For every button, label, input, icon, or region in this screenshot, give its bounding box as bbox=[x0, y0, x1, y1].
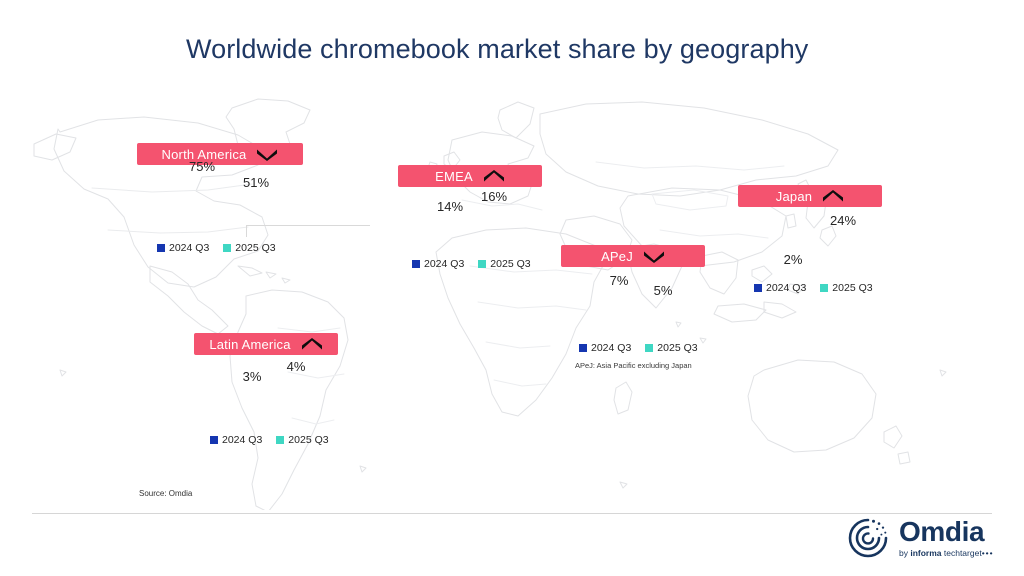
bar-value-japan-2024: 2% bbox=[784, 252, 803, 267]
region-label-apej: APeJ bbox=[601, 249, 633, 264]
legend-swatch-2024-icon bbox=[157, 244, 165, 252]
legend-apej: 2024 Q3 2025 Q3 bbox=[561, 342, 705, 354]
bar-value-emea-2024: 14% bbox=[437, 199, 463, 214]
bar-apej-2025: 5% bbox=[643, 301, 683, 333]
bar-emea-2025: 16% bbox=[474, 207, 514, 249]
page-title: Worldwide chromebook market share by geo… bbox=[186, 34, 808, 65]
legend-item-2024: 2024 Q3 bbox=[754, 282, 806, 294]
legend-latin-america: 2024 Q3 2025 Q3 bbox=[194, 434, 338, 446]
legend-swatch-2024-icon bbox=[210, 436, 218, 444]
omdia-wordmark: Omdia by informa techtarget••• bbox=[899, 518, 994, 558]
legend-swatch-2025-icon bbox=[645, 344, 653, 352]
bar-group-apej: 7% 5% bbox=[561, 267, 705, 333]
legend-label-2024: 2024 Q3 bbox=[591, 342, 631, 354]
legend-item-2025: 2025 Q3 bbox=[478, 258, 530, 270]
bar-latin-america-2024: 3% bbox=[232, 387, 272, 425]
chevron-up-icon bbox=[483, 170, 505, 183]
legend-label-2025: 2025 Q3 bbox=[288, 434, 328, 446]
bar-value-north-america-2025: 51% bbox=[243, 175, 269, 190]
byline-suffix: techtarget bbox=[942, 548, 982, 558]
region-label-emea: EMEA bbox=[435, 169, 473, 184]
bar-north-america-2024: 75% bbox=[177, 177, 227, 233]
legend-swatch-2025-icon bbox=[820, 284, 828, 292]
region-card-emea[interactable]: EMEA 14% 16% 2024 Q3 2025 Q3 bbox=[398, 165, 542, 270]
region-card-apej[interactable]: APeJ 7% 5% 2024 Q3 2025 Q3 bbox=[561, 245, 705, 370]
chevron-up-icon bbox=[301, 338, 323, 351]
bar-latin-america-2025: 4% bbox=[276, 377, 316, 425]
omdia-spiral-mark-icon bbox=[846, 516, 890, 560]
chevron-down-icon bbox=[643, 250, 665, 263]
byline-prefix: by bbox=[899, 548, 910, 558]
region-banner-north-america[interactable]: North America bbox=[137, 143, 303, 165]
region-banner-emea[interactable]: EMEA bbox=[398, 165, 542, 187]
chevron-up-icon bbox=[822, 190, 844, 203]
legend-item-2025: 2025 Q3 bbox=[276, 434, 328, 446]
legend-label-2024: 2024 Q3 bbox=[766, 282, 806, 294]
bar-japan-2025: 24% bbox=[822, 231, 864, 273]
slide-canvas: Worldwide chromebook market share by geo… bbox=[0, 0, 1024, 576]
legend-item-2024: 2024 Q3 bbox=[157, 242, 209, 254]
legend-swatch-2025-icon bbox=[478, 260, 486, 268]
legend-swatch-2025-icon bbox=[276, 436, 284, 444]
bar-value-japan-2025: 24% bbox=[830, 213, 856, 228]
legend-item-2024: 2024 Q3 bbox=[210, 434, 262, 446]
region-label-japan: Japan bbox=[776, 189, 812, 204]
legend-label-2024: 2024 Q3 bbox=[169, 242, 209, 254]
byline-brand: informa bbox=[910, 548, 941, 558]
region-banner-apej[interactable]: APeJ bbox=[561, 245, 705, 267]
legend-label-2024: 2024 Q3 bbox=[222, 434, 262, 446]
bar-group-emea: 14% 16% bbox=[398, 187, 542, 249]
bar-value-apej-2025: 5% bbox=[654, 283, 673, 298]
bar-group-latin-america: 3% 4% bbox=[194, 355, 338, 425]
legend-label-2025: 2025 Q3 bbox=[657, 342, 697, 354]
bar-japan-2024: 2% bbox=[772, 270, 814, 273]
legend-label-2024: 2024 Q3 bbox=[424, 258, 464, 270]
bar-north-america-2025: 51% bbox=[231, 193, 281, 233]
omdia-logo: Omdia by informa techtarget••• bbox=[846, 516, 994, 560]
bar-value-latin-america-2025: 4% bbox=[287, 359, 306, 374]
region-card-latin-america[interactable]: Latin America 3% 4% 2024 Q3 2025 Q3 bbox=[194, 333, 338, 446]
bar-emea-2024: 14% bbox=[430, 217, 470, 249]
legend-swatch-2025-icon bbox=[223, 244, 231, 252]
region-card-japan[interactable]: Japan 2% 24% 2024 Q3 2025 Q3 bbox=[738, 185, 882, 294]
legend-item-2025: 2025 Q3 bbox=[645, 342, 697, 354]
legend-japan: 2024 Q3 2025 Q3 bbox=[738, 282, 882, 294]
legend-item-2025: 2025 Q3 bbox=[820, 282, 872, 294]
bar-value-apej-2024: 7% bbox=[610, 273, 629, 288]
bar-group-north-america: 75% 51% bbox=[137, 165, 303, 233]
region-banner-latin-america[interactable]: Latin America bbox=[194, 333, 338, 355]
bar-value-north-america-2024: 75% bbox=[189, 159, 215, 174]
source-credit: Source: Omdia bbox=[139, 489, 192, 498]
legend-item-2024: 2024 Q3 bbox=[579, 342, 631, 354]
omdia-name: Omdia bbox=[899, 518, 994, 546]
region-card-north-america[interactable]: North America 75% 51% 2024 Q3 2025 Q3 bbox=[137, 143, 303, 254]
legend-label-2025: 2025 Q3 bbox=[490, 258, 530, 270]
bar-apej-2024: 7% bbox=[599, 291, 639, 333]
region-label-latin-america: Latin America bbox=[209, 337, 290, 352]
legend-north-america: 2024 Q3 2025 Q3 bbox=[137, 242, 303, 254]
legend-swatch-2024-icon bbox=[754, 284, 762, 292]
bar-value-latin-america-2024: 3% bbox=[243, 369, 262, 384]
legend-item-2025: 2025 Q3 bbox=[223, 242, 275, 254]
bar-value-emea-2025: 16% bbox=[481, 189, 507, 204]
footer-divider bbox=[32, 513, 992, 514]
chevron-down-icon bbox=[256, 148, 278, 161]
legend-item-2024: 2024 Q3 bbox=[412, 258, 464, 270]
legend-label-2025: 2025 Q3 bbox=[235, 242, 275, 254]
legend-emea: 2024 Q3 2025 Q3 bbox=[398, 258, 542, 270]
apej-footnote: APeJ: Asia Pacific excluding Japan bbox=[561, 361, 705, 370]
legend-swatch-2024-icon bbox=[579, 344, 587, 352]
omdia-byline: by informa techtarget••• bbox=[899, 549, 994, 558]
region-banner-japan[interactable]: Japan bbox=[738, 185, 882, 207]
byline-dots: ••• bbox=[982, 548, 994, 558]
legend-swatch-2024-icon bbox=[412, 260, 420, 268]
legend-label-2025: 2025 Q3 bbox=[832, 282, 872, 294]
bar-group-japan: 2% 24% bbox=[738, 207, 882, 273]
